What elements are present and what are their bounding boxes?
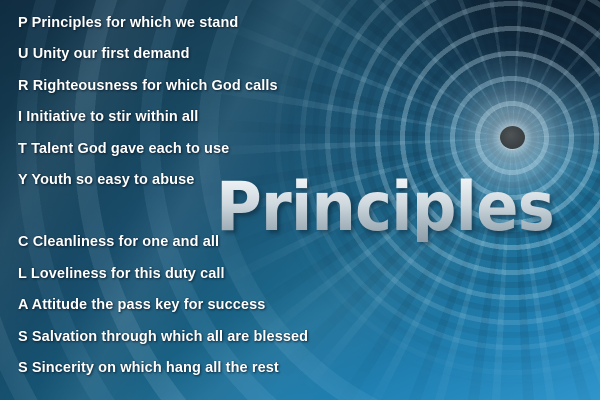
poem-line: R Righteousness for which God calls	[18, 71, 438, 102]
poem-stanza-class: C Cleanliness for one and all L Loveline…	[18, 227, 438, 384]
poem-line: U Unity our first demand	[18, 39, 438, 70]
poem-line: A Attitude the pass key for success	[18, 290, 438, 321]
poem-line: L Loveliness for this duty call	[18, 259, 438, 290]
poem-line: S Salvation through which all are blesse…	[18, 322, 438, 353]
poem-body: P Principles for which we stand U Unity …	[18, 8, 438, 384]
poem-stanza-purity: P Principles for which we stand U Unity …	[18, 8, 438, 196]
poem-stanza-separator	[18, 196, 438, 227]
poem-line: C Cleanliness for one and all	[18, 227, 438, 258]
poem-line: T Talent God gave each to use	[18, 134, 438, 165]
poem-line: P Principles for which we stand	[18, 8, 438, 39]
poem-line: I Initiative to stir within all	[18, 102, 438, 133]
poem-line: S Sincerity on which hang all the rest	[18, 353, 438, 384]
poem-line: Y Youth so easy to abuse	[18, 165, 438, 196]
principles-poster: Principles P Principles for which we sta…	[0, 0, 600, 400]
vortex-center-pupil	[500, 126, 525, 149]
